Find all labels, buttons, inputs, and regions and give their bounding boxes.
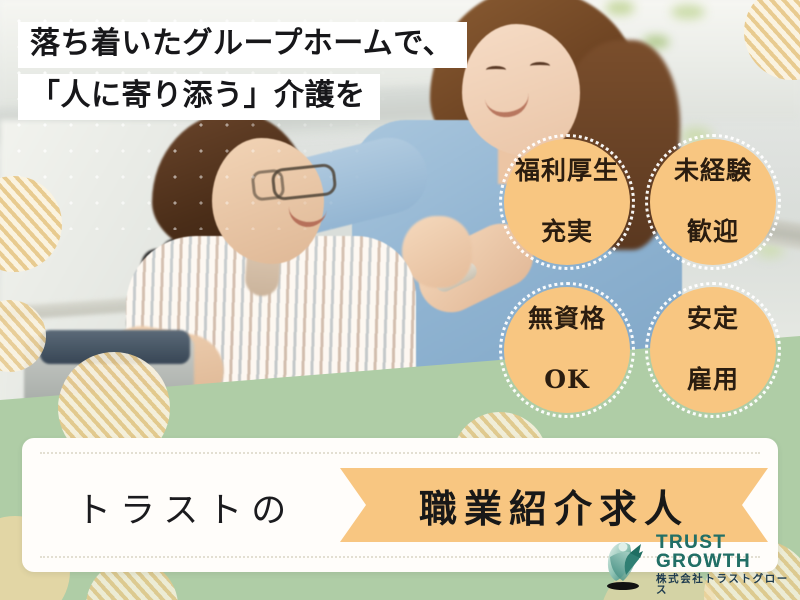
headline: 落ち着いたグループホームで、 「人に寄り添う」介護を xyxy=(18,22,467,126)
badge-welfare-benefits: 福利厚生 充実 xyxy=(504,139,630,265)
badge-stable-employment: 安定 雇用 xyxy=(650,287,776,413)
banner-pretext: トラストの xyxy=(76,482,295,533)
badge-no-experience-line1: 未経験 xyxy=(674,156,752,187)
logo-text: TRUST GROWTH 株式会社トラストグロース xyxy=(656,533,792,595)
headline-line-1: 落ち着いたグループホームで、 xyxy=(18,22,467,68)
logo-mark-icon xyxy=(596,537,650,591)
badge-no-qualification-ok: 無資格 OK xyxy=(504,287,630,413)
badge-no-qualification-line1: 無資格 xyxy=(528,304,606,335)
poster-root: 落ち着いたグループホームで、 「人に寄り添う」介護を 福利厚生 充実 未経験 歓… xyxy=(0,0,800,600)
card-dotted-rule-top xyxy=(40,452,760,454)
badge-welfare-benefits-line1: 福利厚生 xyxy=(515,156,619,187)
badge-stable-employment-line2: 雇用 xyxy=(687,365,739,396)
headline-line-2: 「人に寄り添う」介護を xyxy=(18,74,380,120)
badge-stable-employment-line1: 安定 xyxy=(687,304,739,335)
badge-no-experience-line2: 歓迎 xyxy=(674,217,752,248)
badge-no-qualification-line2: OK xyxy=(528,365,606,396)
logo-english-name: TRUST GROWTH xyxy=(656,533,792,571)
banner-ribbon: 職業紹介求人 xyxy=(340,468,768,542)
badge-no-experience-welcome: 未経験 歓迎 xyxy=(650,139,776,265)
trust-growth-logo: TRUST GROWTH 株式会社トラストグロース xyxy=(596,536,792,592)
banner-ribbon-label: 職業紹介求人 xyxy=(419,478,689,533)
badge-welfare-benefits-line2: 充実 xyxy=(515,217,619,248)
logo-japanese-name: 株式会社トラストグロース xyxy=(656,574,792,595)
